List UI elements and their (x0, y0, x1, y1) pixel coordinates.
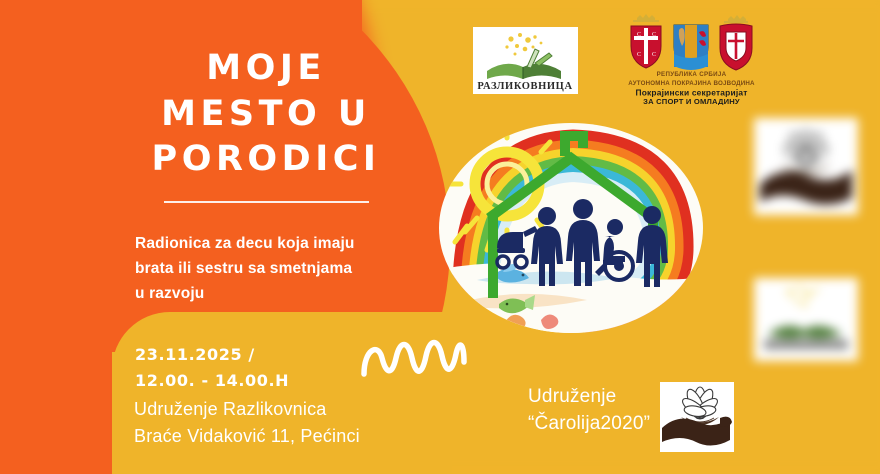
carolija2020-logo (660, 382, 734, 452)
organizer-text: Udruženje “Čarolija2020” (528, 384, 658, 438)
secretariat-line-1: РЕПУБЛИКА СРБИЈА (657, 71, 727, 78)
title-line-1: MOJE (130, 46, 402, 92)
svg-text:C: C (652, 32, 656, 38)
svg-text:C: C (637, 52, 641, 58)
title-line-2: MESTO U (130, 92, 402, 138)
pokrajinski-sekretarijat-logo: CC CC (615, 12, 768, 105)
event-time: 12.00. - 14.00.H (135, 368, 289, 394)
event-datetime: 23.11.2025 / 12.00. - 14.00.H (135, 342, 289, 394)
title-line-3: PORODICI (130, 137, 402, 183)
secretariat-line-4: ЗА СПОРТ И ОМЛАДИНУ (643, 97, 740, 105)
organizer-line-2: “Čarolija2020” (528, 411, 658, 438)
razlikovnica-logo-text: РАЗЛИКОВНИЦА (477, 81, 572, 92)
event-venue: Udruženje Razlikovnica Braće Vidaković 1… (134, 396, 360, 450)
secretariat-line-3: Покрајински секретаријат (635, 88, 747, 98)
poster-root: 23.11.2025 / 12.00. - 14.00.H Udruženje … (0, 0, 880, 474)
title-divider-rule (164, 201, 369, 203)
razlikovnica-logo: РАЗЛИКОВНИЦА (473, 27, 578, 94)
serbia-coat-of-arms-icon: CC CC (631, 14, 661, 68)
edge-thumb-razlikovnica-logo (754, 278, 858, 361)
poster-title: MOJE MESTO U PORODICI (130, 46, 402, 203)
family-house-rainbow-illustration (437, 122, 705, 334)
venue-organization: Udruženje Razlikovnica (134, 396, 360, 423)
edge-thumb-carolija-logo (754, 118, 858, 215)
organizer-line-1: Udruženje (528, 384, 658, 411)
orange-top-strip (112, 0, 362, 32)
svg-text:C: C (652, 52, 656, 58)
vojvodina-coat-of-arms-icon (674, 25, 708, 70)
squiggle-decoration-icon (358, 332, 470, 385)
event-date: 23.11.2025 / (135, 342, 289, 368)
secretariat-line-2: АУТОНОМНА ПОКРАЈИНА ВОЈВОДИНА (628, 80, 755, 87)
poster-subtitle: Radionica za decu koja imaju brata ili s… (135, 231, 365, 306)
venue-address: Braće Vidaković 11, Pećinci (134, 423, 360, 450)
serbia-state-arms-icon (720, 15, 752, 70)
svg-text:C: C (637, 32, 641, 38)
